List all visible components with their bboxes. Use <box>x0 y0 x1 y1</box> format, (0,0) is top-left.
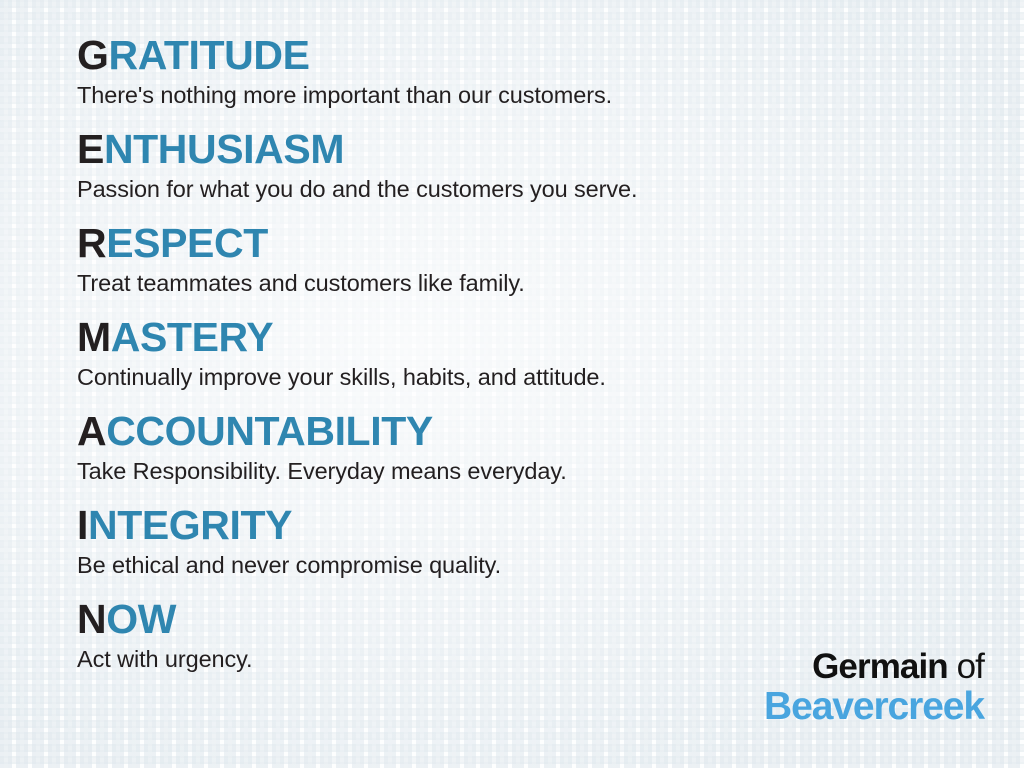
core-values-list: GRATITUDE There's nothing more important… <box>77 34 957 675</box>
value-description-integrity: Be ethical and never compromise quality. <box>77 550 957 581</box>
brand-logo-dealer-name: Germain <box>812 647 948 686</box>
brand-logo: Germain of Beavercreek <box>764 649 984 726</box>
value-heading-remainder: CCOUNTABILITY <box>106 408 433 454</box>
value-heading-gratitude: GRATITUDE <box>77 34 957 77</box>
values-poster: GRATITUDE There's nothing more important… <box>0 0 1024 768</box>
value-heading-remainder: ASTERY <box>111 314 273 360</box>
value-initial-letter: E <box>77 126 104 172</box>
value-heading-remainder: RATITUDE <box>109 32 310 78</box>
value-heading-remainder: NTEGRITY <box>88 502 292 548</box>
value-heading-remainder: NTHUSIASM <box>104 126 344 172</box>
value-description-gratitude: There's nothing more important than our … <box>77 80 957 111</box>
value-description-mastery: Continually improve your skills, habits,… <box>77 362 957 393</box>
value-description-respect: Treat teammates and customers like famil… <box>77 268 957 299</box>
brand-logo-name-line: Germain of <box>764 649 984 684</box>
value-initial-letter: G <box>77 32 109 78</box>
value-description-enthusiasm: Passion for what you do and the customer… <box>77 174 957 205</box>
value-heading-accountability: ACCOUNTABILITY <box>77 410 957 453</box>
value-initial-letter: I <box>77 502 88 548</box>
value-initial-letter: R <box>77 220 106 266</box>
value-block-respect: RESPECT Treat teammates and customers li… <box>77 222 957 299</box>
value-heading-remainder: OW <box>106 596 176 642</box>
value-heading-respect: RESPECT <box>77 222 957 265</box>
value-heading-now: NOW <box>77 598 957 641</box>
value-heading-remainder: ESPECT <box>106 220 268 266</box>
value-block-enthusiasm: ENTHUSIASM Passion for what you do and t… <box>77 128 957 205</box>
value-initial-letter: M <box>77 314 111 360</box>
value-initial-letter: A <box>77 408 106 454</box>
brand-logo-connector: of <box>948 647 984 686</box>
value-block-accountability: ACCOUNTABILITY Take Responsibility. Ever… <box>77 410 957 487</box>
value-heading-integrity: INTEGRITY <box>77 504 957 547</box>
brand-logo-location: Beavercreek <box>764 687 984 726</box>
value-initial-letter: N <box>77 596 106 642</box>
value-heading-mastery: MASTERY <box>77 316 957 359</box>
value-block-integrity: INTEGRITY Be ethical and never compromis… <box>77 504 957 581</box>
value-block-gratitude: GRATITUDE There's nothing more important… <box>77 34 957 111</box>
value-heading-enthusiasm: ENTHUSIASM <box>77 128 957 171</box>
value-description-accountability: Take Responsibility. Everyday means ever… <box>77 456 957 487</box>
value-block-mastery: MASTERY Continually improve your skills,… <box>77 316 957 393</box>
